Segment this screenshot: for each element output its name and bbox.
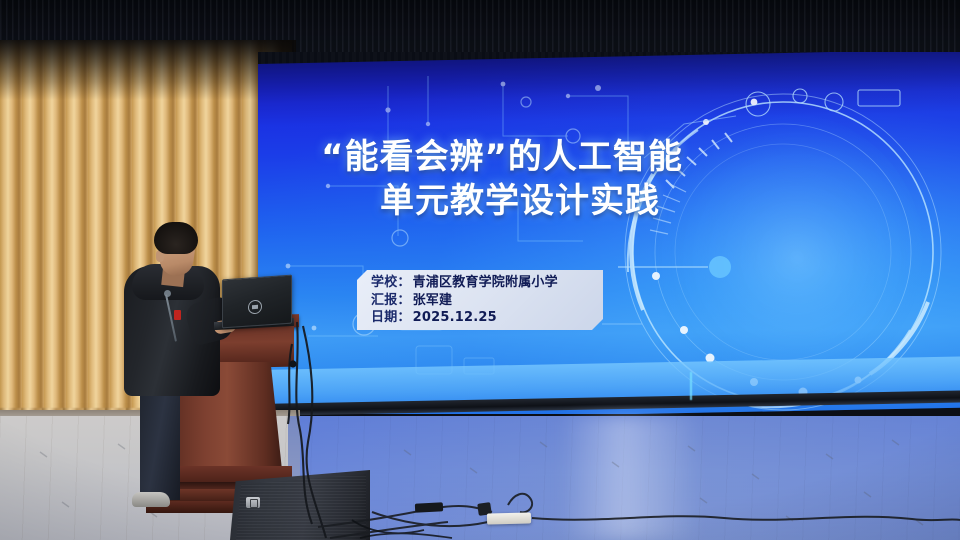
power-strip	[487, 512, 531, 524]
floor-cables	[0, 0, 960, 540]
cable-adapter	[415, 502, 443, 512]
screenshot-root: “能看会辨”的人工智能 单元教学设计实践 学校： 青浦区教育学院附属小学 汇报：…	[0, 0, 960, 540]
